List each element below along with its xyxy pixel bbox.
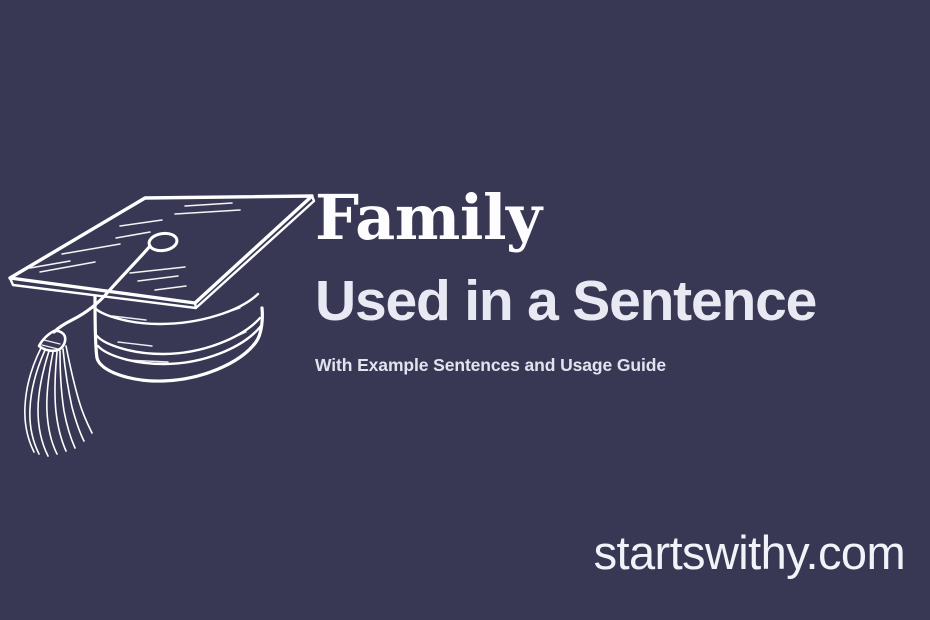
page-title: Used in a Sentence <box>315 250 915 332</box>
brand-logo: startswithy.com <box>594 528 905 578</box>
keyword-title: Family <box>315 186 915 250</box>
graduation-cap-icon <box>0 168 330 468</box>
headline-block: Family Used in a Sentence With Example S… <box>315 186 915 376</box>
page-subtitle: With Example Sentences and Usage Guide <box>315 332 915 376</box>
promo-card: Family Used in a Sentence With Example S… <box>0 0 930 620</box>
